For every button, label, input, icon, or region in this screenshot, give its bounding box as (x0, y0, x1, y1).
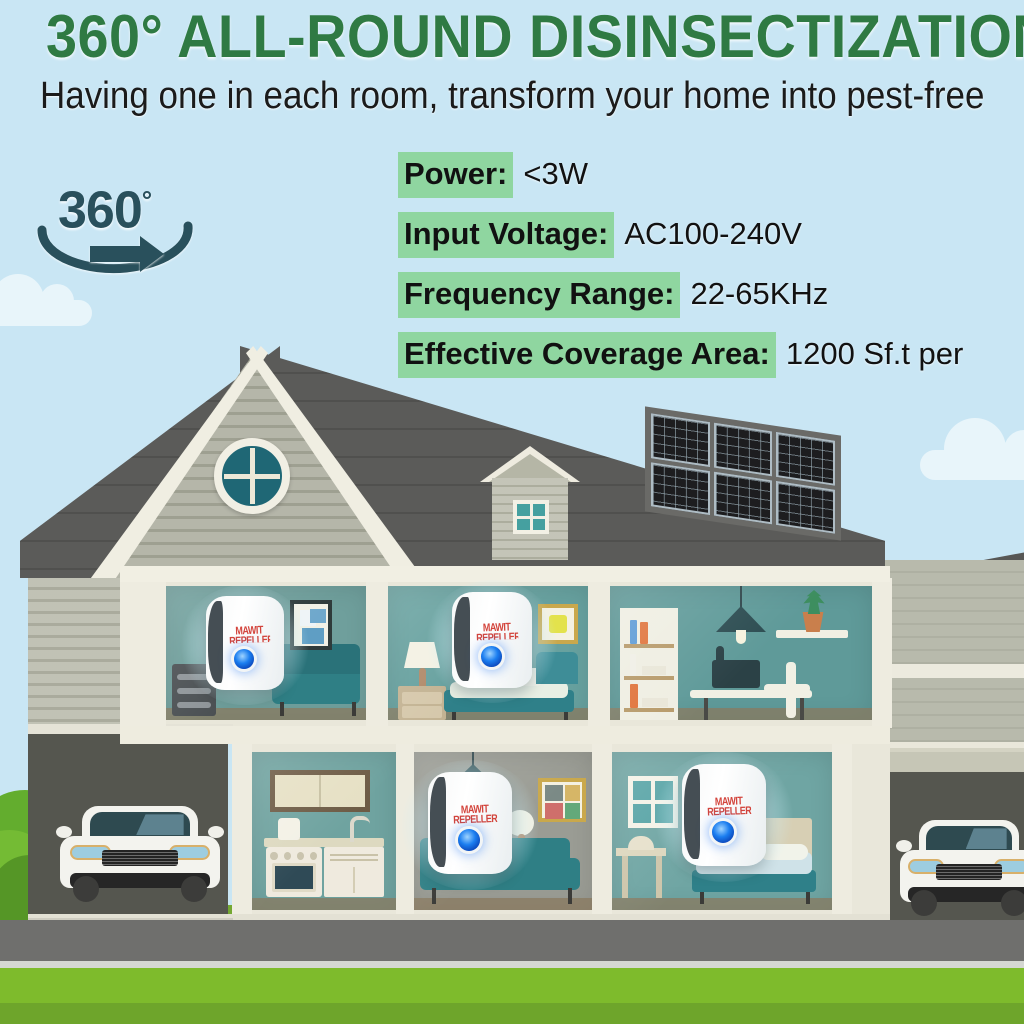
room-home-office (608, 586, 874, 720)
left-siding (28, 578, 124, 730)
attic-round-window (214, 438, 290, 514)
wall-end-left (120, 578, 166, 728)
spec-row-frequency-range: Frequency Range: 22-65KHz (398, 272, 828, 318)
upper-eave (120, 566, 890, 582)
badge-number: 360 (58, 181, 142, 239)
spec-label: Input Voltage: (398, 212, 614, 258)
infographic-canvas: MAWIT REPELLER MAWIT REPELLER MAWIT REPE… (0, 0, 1024, 1024)
spec-row-coverage-area: Effective Coverage Area: 1200 Sf.t per (398, 332, 963, 378)
device-side-panel (430, 777, 447, 867)
badge-360-text: 360° (58, 174, 151, 236)
wall-end-left (232, 740, 252, 918)
wall-end-right (832, 740, 852, 918)
pest-repeller-device[interactable]: MAWIT REPELLER (682, 764, 766, 866)
page-title: 360° ALL-ROUND DISINSECTIZATION (46, 2, 1023, 72)
solar-panel (776, 432, 835, 485)
spec-value: 1200 Sf.t per (786, 334, 964, 374)
page-subtitle: Having one in each room, transform your … (40, 72, 1015, 120)
floor-slab-middle (120, 726, 890, 744)
device-side-panel (454, 597, 470, 681)
car-left (60, 790, 220, 902)
solar-panel (776, 480, 835, 533)
wall-divider (588, 578, 610, 728)
front-lawn-shade (0, 1003, 1024, 1024)
spec-list: Power: <3W Input Voltage: AC100-240V Fre… (398, 152, 963, 378)
solar-panel (714, 423, 773, 476)
car-right (900, 820, 1024, 916)
right-garage-panel (890, 752, 1024, 772)
device-logo: MAWIT REPELLER (453, 803, 497, 824)
rotation-360-badge: 360° (30, 168, 210, 280)
badge-degree-symbol: ° (142, 185, 151, 215)
wall-divider (592, 740, 612, 918)
device-logo: MAWIT REPELLER (229, 625, 270, 644)
dormer-window (513, 500, 549, 534)
solar-panel (651, 462, 710, 515)
pest-repeller-device[interactable]: MAWIT REPELLER (428, 772, 512, 874)
blue-led-indicator (458, 829, 480, 851)
device-side-panel (684, 769, 701, 859)
blue-led-indicator (712, 821, 734, 843)
curb (0, 961, 1024, 968)
pest-repeller-device[interactable]: MAWIT REPELLER (206, 596, 284, 690)
blue-led-indicator (481, 646, 502, 667)
spec-value: AC100-240V (624, 214, 802, 254)
spec-value: 22-65KHz (690, 274, 828, 314)
device-logo: MAWIT REPELLER (707, 795, 751, 816)
spec-row-input-voltage: Input Voltage: AC100-240V (398, 212, 802, 258)
spec-row-power: Power: <3W (398, 152, 588, 198)
solar-panel (714, 471, 773, 524)
spec-label: Power: (398, 152, 513, 198)
cloud-left (0, 300, 92, 326)
room-kitchen (250, 752, 398, 910)
spec-value: <3W (523, 154, 588, 194)
device-logo: MAWIT REPELLER (476, 621, 518, 640)
solar-panel (651, 413, 710, 466)
wall-end-right (872, 578, 892, 728)
cloud-right (920, 450, 1024, 480)
road (0, 920, 1024, 965)
device-side-panel (208, 601, 224, 684)
pest-repeller-device[interactable]: MAWIT REPELLER (452, 592, 532, 688)
wall-divider (366, 578, 388, 728)
spec-label: Effective Coverage Area: (398, 332, 776, 378)
spec-label: Frequency Range: (398, 272, 680, 318)
